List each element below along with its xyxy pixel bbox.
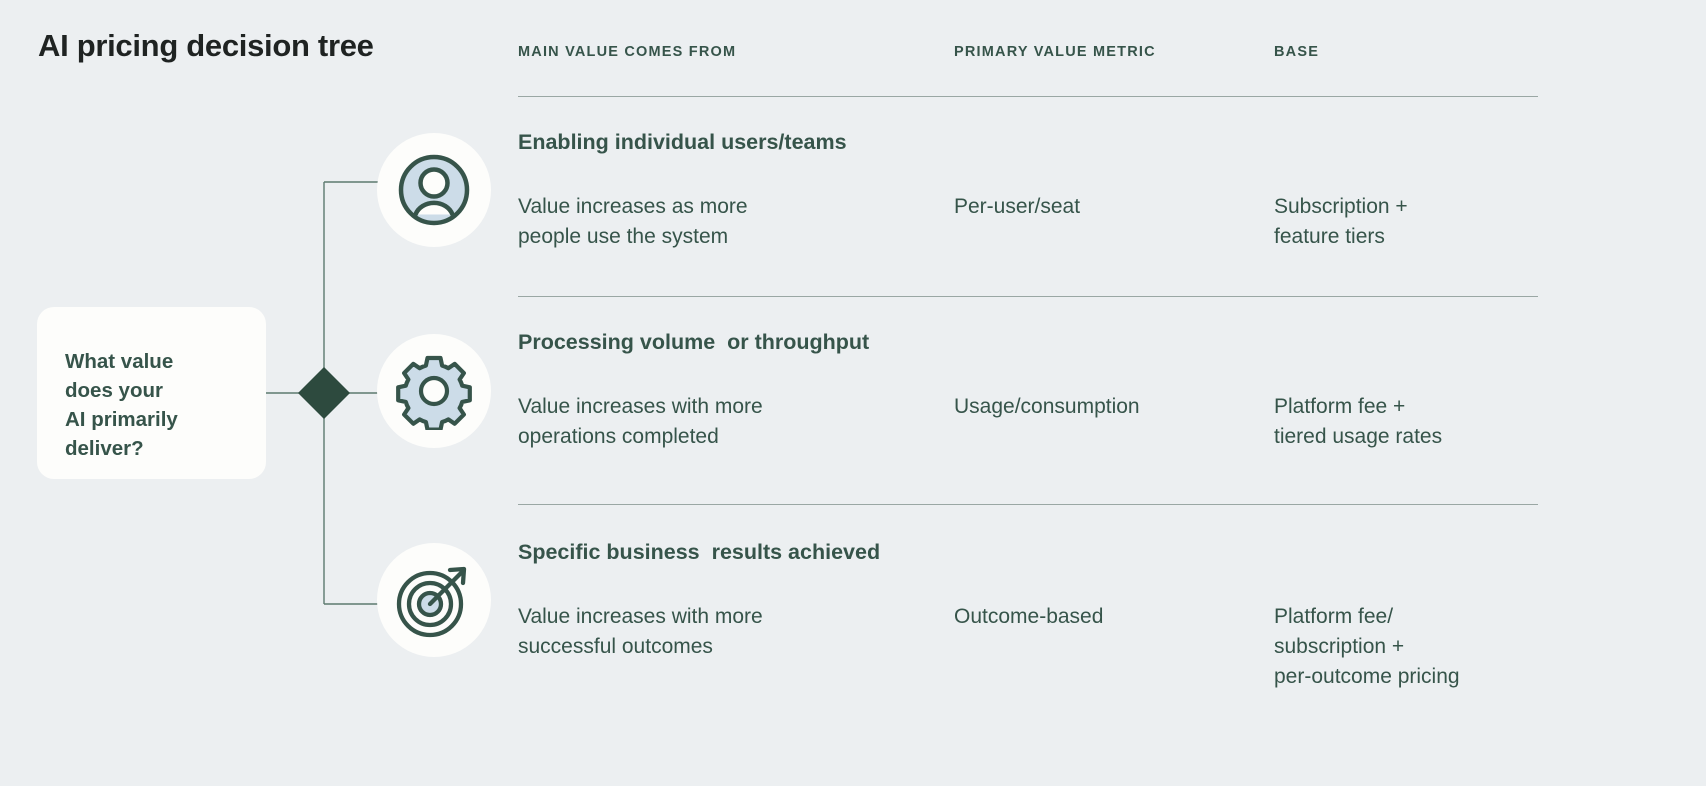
gear-icon <box>395 352 473 430</box>
row-description: Value increases with more operations com… <box>518 392 848 452</box>
row-description: Value increases with more successful out… <box>518 602 848 662</box>
row-divider <box>518 504 1538 505</box>
decision-diamond-node <box>298 367 350 419</box>
row-primary-metric: Outcome-based <box>954 602 1254 632</box>
column-header-row: MAIN VALUE COMES FROM PRIMARY VALUE METR… <box>518 44 1538 74</box>
row-title: Enabling individual users/teams <box>518 130 847 155</box>
user-circle-icon <box>395 151 473 229</box>
row-divider <box>518 296 1538 297</box>
target-arrow-icon <box>392 558 476 642</box>
row-primary-metric: Per-user/seat <box>954 192 1254 222</box>
row-base: Platform fee + tiered usage rates <box>1274 392 1538 452</box>
icon-badge-row-3 <box>377 543 491 657</box>
column-header-base: BASE <box>1274 44 1319 60</box>
column-header-main-value: MAIN VALUE COMES FROM <box>518 44 736 60</box>
header-divider <box>518 96 1538 97</box>
row-title: Specific business results achieved <box>518 540 880 565</box>
page-title: AI pricing decision tree <box>38 28 374 64</box>
row-base: Platform fee/ subscription + per-outcome… <box>1274 602 1538 692</box>
row-title: Processing volume or throughput <box>518 330 869 355</box>
row-primary-metric: Usage/consumption <box>954 392 1254 422</box>
row-description: Value increases as more people use the s… <box>518 192 848 252</box>
decision-question-text: What value does your AI primarily delive… <box>65 347 266 463</box>
column-header-primary-metric: PRIMARY VALUE METRIC <box>954 44 1156 60</box>
row-base: Subscription + feature tiers <box>1274 192 1538 252</box>
decision-question-card: What value does your AI primarily delive… <box>37 307 266 479</box>
icon-badge-row-1 <box>377 133 491 247</box>
icon-badge-row-2 <box>377 334 491 448</box>
